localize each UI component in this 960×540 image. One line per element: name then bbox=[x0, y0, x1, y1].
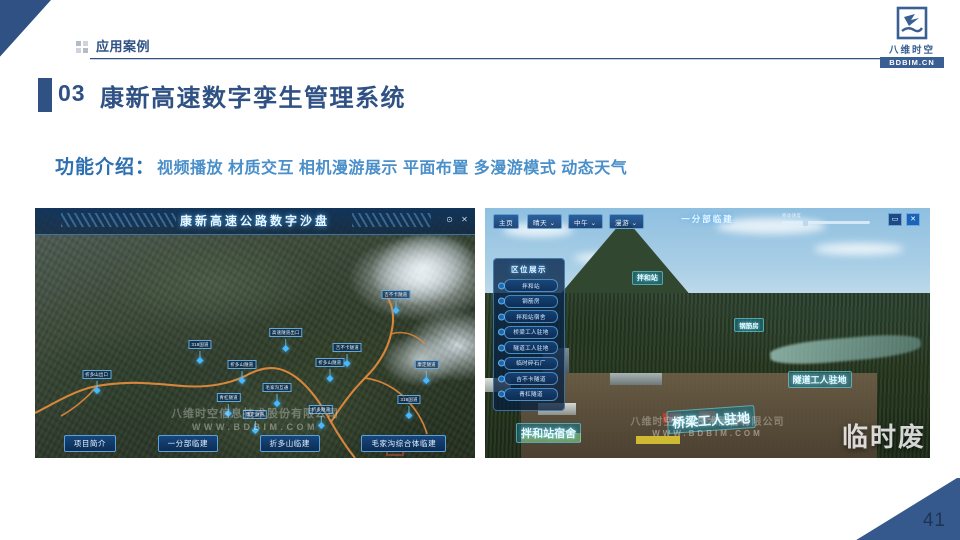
screenshot-3d-scene: 主页 晴天 ⌄ 中午 ⌄ 漫游 ⌄ 一分部临建 移动速度 ▭ ✕ 区位展示 拌和… bbox=[485, 208, 930, 458]
map-marker-label: 318国道 bbox=[188, 340, 211, 349]
map-marker-label: 毛家沟互通 bbox=[263, 383, 292, 392]
map-marker-label: 高速隧道出口 bbox=[269, 328, 303, 337]
feature-intro-list: 视频播放 材质交互 相机漫游展示 平面布置 多漫游模式 动态天气 bbox=[157, 154, 627, 178]
map-marker-label: 折多隧道 bbox=[309, 405, 333, 414]
location-item-crushing-plant[interactable]: 临时碎石厂 bbox=[504, 357, 558, 370]
slide-root: 应用案例 03 康新高速数字孪生管理系统 八维时空 BDBIM.CN 功能介绍：… bbox=[0, 0, 960, 540]
map-marker-label: 康定隧道 bbox=[243, 410, 267, 419]
page-title: 康新高速数字孪生管理系统 bbox=[100, 78, 406, 113]
marker-dot-icon bbox=[317, 422, 324, 429]
location-item-tunnel-workers[interactable]: 隧道工人驻地 bbox=[504, 341, 558, 354]
logo-name-cn: 八维时空 bbox=[880, 42, 944, 56]
map-marker-label: 折多山隧道 bbox=[227, 360, 256, 369]
location-item-mixing-dorm[interactable]: 拌和站宿舍 bbox=[504, 310, 558, 323]
scene-label-rebar-shed[interactable]: 钢筋房 bbox=[734, 318, 764, 332]
marker-dot-icon bbox=[225, 409, 232, 416]
sandbox-button-project-intro[interactable]: 项目简介 bbox=[64, 435, 116, 452]
map-marker[interactable]: 吉不卡隧道 bbox=[333, 336, 362, 366]
brand-logo: 八维时空 BDBIM.CN bbox=[880, 6, 944, 68]
scene-overlay-text: 临时废 bbox=[842, 417, 926, 454]
map-marker[interactable]: 高速隧道出口 bbox=[269, 321, 303, 351]
section-number: 03 bbox=[58, 80, 86, 107]
scene-label-mixing-plant[interactable]: 拌和站 bbox=[632, 271, 663, 285]
map-marker[interactable]: 318国道 bbox=[397, 388, 420, 418]
minimize-icon[interactable]: ▭ bbox=[888, 213, 902, 226]
feature-intro-label: 功能介绍： bbox=[55, 152, 155, 179]
sandbox-button-bar: 项目简介 一分部临建 折多山临建 毛家沟综合体临建 bbox=[35, 435, 475, 452]
map-marker[interactable]: 折多山出口 bbox=[82, 363, 111, 393]
settings-icon[interactable]: ⊙ bbox=[445, 215, 454, 224]
map-marker-label: 318国道 bbox=[397, 395, 420, 404]
map-marker-label: 吉不卡隧道 bbox=[381, 290, 410, 299]
location-item-jibuka-tunnel[interactable]: 吉不卡隧道 bbox=[504, 372, 558, 385]
map-marker-label: 康定隧道 bbox=[414, 360, 438, 369]
location-panel-title: 区位展示 bbox=[498, 264, 560, 275]
decoration-stripe-2 bbox=[0, 0, 74, 80]
map-marker[interactable]: 折多山隧道 bbox=[227, 353, 256, 383]
location-item-qinggang-tunnel[interactable]: 青杠隧道 bbox=[504, 388, 558, 401]
marker-dot-icon bbox=[423, 377, 430, 384]
sandbox-titlebar: 康新高速公路数字沙盘 ⊙ ✕ bbox=[35, 208, 475, 235]
yellow-yard bbox=[636, 436, 680, 444]
page-corner: 41 bbox=[850, 478, 960, 540]
slider-handle[interactable] bbox=[803, 219, 808, 226]
breadcrumb-label: 应用案例 bbox=[96, 36, 150, 55]
sandbox-button-division-one[interactable]: 一分部临建 bbox=[158, 435, 219, 452]
sandbox-button-zheduoshan[interactable]: 折多山临建 bbox=[260, 435, 321, 452]
section-accent-bar bbox=[38, 78, 52, 112]
breadcrumb: 应用案例 bbox=[76, 36, 150, 55]
page-number: 41 bbox=[923, 510, 946, 532]
marker-dot-icon bbox=[344, 359, 351, 366]
map-marker-label: 折多山出口 bbox=[82, 370, 111, 379]
location-item-bridge-workers[interactable]: 桥梁工人驻地 bbox=[504, 326, 558, 339]
marker-dot-icon bbox=[282, 344, 289, 351]
map-marker[interactable]: 康定隧道 bbox=[243, 403, 267, 433]
marker-dot-icon bbox=[238, 377, 245, 384]
cloud bbox=[814, 243, 904, 255]
map-marker[interactable]: 毛家沟互通 bbox=[263, 376, 292, 406]
move-speed-slider[interactable]: 移动速度 bbox=[782, 213, 870, 224]
map-marker[interactable]: 吉不卡隧道 bbox=[381, 283, 410, 313]
feature-intro: 功能介绍： 视频播放 材质交互 相机漫游展示 平面布置 多漫游模式 动态天气 bbox=[55, 152, 627, 179]
marker-dot-icon bbox=[273, 399, 280, 406]
location-item-mixing-plant[interactable]: 拌和站 bbox=[504, 279, 558, 292]
map-marker[interactable]: 康定隧道 bbox=[414, 353, 438, 383]
scene-label-mixing-plant-dorm[interactable]: 拌和站宿舍 bbox=[516, 423, 581, 443]
marker-dot-icon bbox=[326, 374, 333, 381]
map-marker-label: 吉不卡隧道 bbox=[333, 343, 362, 352]
sandbox-window-buttons[interactable]: ⊙ ✕ bbox=[445, 215, 469, 224]
slider-track[interactable] bbox=[782, 221, 870, 224]
rebar-shed-structure bbox=[610, 373, 662, 385]
map-marker-label: 青杠隧道 bbox=[216, 393, 240, 402]
scene-window-buttons[interactable]: ▭ ✕ bbox=[888, 213, 920, 226]
location-panel: 区位展示 拌和站 钢筋房 拌和站宿舍 桥梁工人驻地 隧道工人驻地 临时碎石厂 吉… bbox=[493, 258, 565, 411]
dot-grid-icon bbox=[76, 41, 88, 53]
scene-toolbar: 主页 晴天 ⌄ 中午 ⌄ 漫游 ⌄ 一分部临建 移动速度 ▭ ✕ bbox=[485, 208, 930, 232]
location-item-rebar-shed[interactable]: 钢筋房 bbox=[504, 295, 558, 308]
move-speed-label: 移动速度 bbox=[782, 213, 870, 219]
close-icon[interactable]: ✕ bbox=[460, 215, 469, 224]
marker-dot-icon bbox=[405, 412, 412, 419]
map-marker[interactable]: 318国道 bbox=[188, 333, 211, 363]
screenshot-digital-sandbox: 康新高速公路数字沙盘 ⊙ ✕ 折多山出口 318国道 折多山隧道 高速隧道出口 bbox=[35, 208, 475, 458]
logo-name-en: BDBIM.CN bbox=[880, 57, 944, 68]
marker-dot-icon bbox=[196, 357, 203, 364]
scene-label-tunnel-workers-camp[interactable]: 隧道工人驻地 bbox=[788, 371, 852, 388]
decoration-stripe-1 bbox=[0, 0, 23, 80]
header-divider bbox=[90, 58, 928, 60]
close-icon[interactable]: ✕ bbox=[906, 213, 920, 226]
marker-dot-icon bbox=[392, 307, 399, 314]
map-marker[interactable]: 折多隧道 bbox=[309, 398, 333, 428]
map-marker[interactable]: 青杠隧道 bbox=[216, 386, 240, 416]
marker-dot-icon bbox=[251, 427, 258, 434]
sandbox-button-maojiagou[interactable]: 毛家沟综合体临建 bbox=[361, 435, 446, 452]
logo-mark-icon bbox=[895, 6, 929, 40]
sandbox-title: 康新高速公路数字沙盘 bbox=[35, 212, 475, 229]
marker-dot-icon bbox=[93, 387, 100, 394]
